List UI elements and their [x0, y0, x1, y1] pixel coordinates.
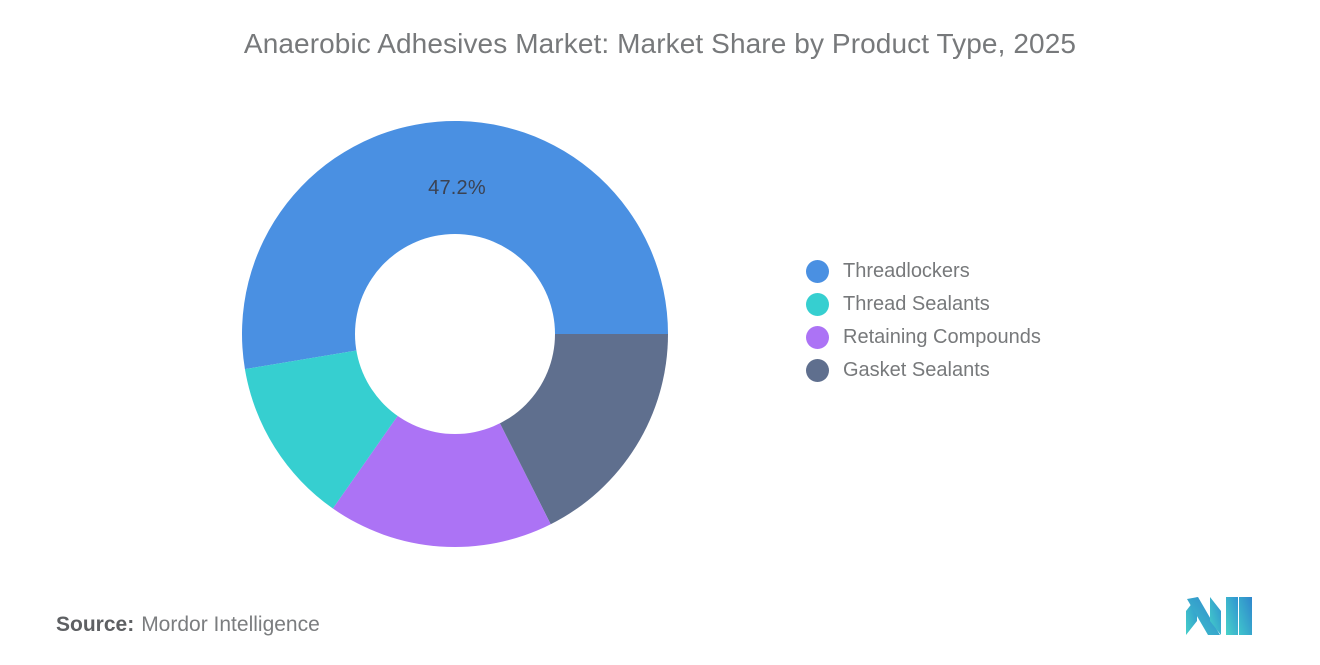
legend-swatch-icon	[806, 359, 829, 382]
legend-item-label: Gasket Sealants	[843, 359, 990, 382]
donut-hole	[355, 234, 555, 434]
logo-mark-icon	[1186, 597, 1252, 635]
source-label: Source:	[56, 613, 134, 636]
legend-item-label: Retaining Compounds	[843, 326, 1041, 349]
donut-svg	[242, 121, 668, 547]
legend-swatch-icon	[806, 293, 829, 316]
chart-page: Anaerobic Adhesives Market: Market Share…	[0, 0, 1320, 665]
page-title: Anaerobic Adhesives Market: Market Share…	[0, 28, 1320, 60]
donut-chart: 47.2%	[242, 121, 668, 547]
source-line: Source:Mordor Intelligence	[56, 613, 320, 637]
chart-legend: Threadlockers Thread Sealants Retaining …	[806, 255, 1226, 387]
legend-item-thread-sealants[interactable]: Thread Sealants	[806, 288, 1226, 321]
legend-item-label: Thread Sealants	[843, 293, 990, 316]
legend-item-retaining-compounds[interactable]: Retaining Compounds	[806, 321, 1226, 354]
mordor-intelligence-logo	[1186, 597, 1252, 635]
legend-item-threadlockers[interactable]: Threadlockers	[806, 255, 1226, 288]
source-value: Mordor Intelligence	[141, 613, 320, 636]
legend-item-label: Threadlockers	[843, 260, 970, 283]
legend-swatch-icon	[806, 326, 829, 349]
legend-item-gasket-sealants[interactable]: Gasket Sealants	[806, 354, 1226, 387]
legend-swatch-icon	[806, 260, 829, 283]
